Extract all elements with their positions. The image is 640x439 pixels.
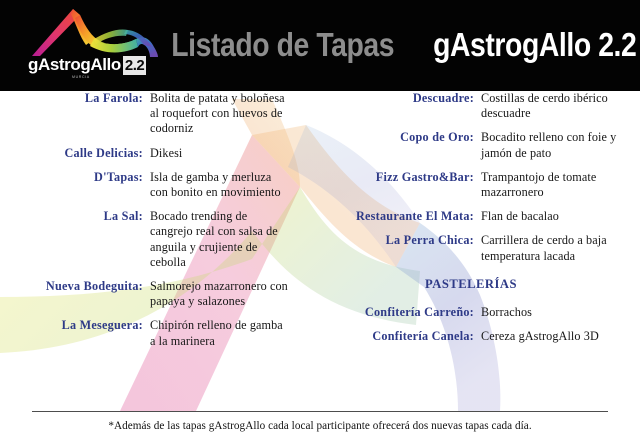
desc-line: cebolla [150,255,312,270]
tapa-description: Chipirón relleno de gamba a la marinera [150,318,312,348]
venue-name: D'Tapas: [12,170,150,185]
list-item: D'Tapas: Isla de gamba y merluza con bon… [12,170,312,200]
venue-name: La Farola: [12,91,150,106]
venue-name: Calle Delicias: [12,146,150,161]
desc-line: Bocado trending de [150,209,312,224]
desc-line: Carrillera de cerdo a baja [481,233,630,248]
list-item: Restaurante El Mata: Flan de bacalao [330,209,630,224]
tapa-description: Dikesi [150,146,312,161]
logo-wordmark-text: gAstrogAllo [28,56,121,74]
page-title-brand: gAstrogAllo 2.2 [428,27,636,63]
list-item: La Meseguera: Chipirón relleno de gamba … [12,318,312,348]
page-footer: *Además de las tapas gAstrogAllo cada lo… [0,411,640,439]
list-item: Descuadre: Costillas de cerdo ibérico de… [330,91,630,121]
tapa-description: Trampantojo de tomate mazarronero [481,170,630,200]
page-title: Listado de Tapas gAstrogAllo 2.2 [176,21,636,69]
list-item: Calle Delicias: Dikesi [12,146,312,161]
desc-line: codorniz [150,121,312,136]
venue-name: La Perra Chica: [330,233,481,248]
tapa-description: Bocadito relleno con foie y jamón de pat… [481,130,630,160]
list-item: La Sal: Bocado trending de cangrejo real… [12,209,312,270]
page-header: gAstrogAllo 2.2 MURCIA Listado de Tapas … [0,0,640,91]
desc-line: Salmorejo mazarronero con [150,279,312,294]
desc-line: cangrejo real con salsa de [150,224,312,239]
tapa-description: Carrillera de cerdo a baja temperatura l… [481,233,630,263]
list-item: La Perra Chica: Carrillera de cerdo a ba… [330,233,630,263]
desc-line: Bolita de patata y boloñesa [150,91,312,106]
tapa-description: Borrachos [481,305,630,320]
list-item: Confitería Canela: Cereza gAstrogAllo 3D [330,329,630,344]
tapa-description: Bocado trending de cangrejo real con sal… [150,209,312,270]
venue-name: La Meseguera: [12,318,150,333]
list-item: Confitería Carreño: Borrachos [330,305,630,320]
venue-name: Confitería Canela: [330,329,481,344]
venue-name: Nueva Bodeguita: [12,279,150,294]
desc-line: Bocadito relleno con foie y [481,130,630,145]
tapa-description: Cereza gAstrogAllo 3D [481,329,630,344]
desc-line: mazarronero [481,185,630,200]
desc-line: Cereza gAstrogAllo 3D [481,329,630,344]
tapa-description: Bolita de patata y boloñesa al roquefort… [150,91,312,137]
tapa-description: Costillas de cerdo ibérico descuadre [481,91,630,121]
list-item: La Farola: Bolita de patata y boloñesa a… [12,91,312,137]
desc-line: descuadre [481,106,630,121]
desc-line: temperatura lacada [481,249,630,264]
tapas-listing: La Farola: Bolita de patata y boloñesa a… [0,91,640,411]
tapa-description: Salmorejo mazarronero con papaya y salaz… [150,279,312,309]
brand-logo: gAstrogAllo 2.2 MURCIA [26,6,166,86]
footer-note: *Además de las tapas gAstrogAllo cada lo… [0,419,640,433]
list-item: Copo de Oro: Bocadito relleno con foie y… [330,130,630,160]
desc-line: Borrachos [481,305,630,320]
desc-line: Trampantojo de tomate [481,170,630,185]
venue-name: Fizz Gastro&Bar: [330,170,481,185]
venue-name: Confitería Carreño: [330,305,481,320]
right-column: Descuadre: Costillas de cerdo ibérico de… [330,91,630,353]
venue-name: Restaurante El Mata: [330,209,481,224]
desc-line: papaya y salazones [150,294,312,309]
page-title-primary: Listado de Tapas [171,27,394,63]
desc-line: Chipirón relleno de gamba [150,318,312,333]
venue-name: Descuadre: [330,91,481,106]
section-heading-pastelerias: PASTELERÍAS [330,276,630,292]
venue-name: La Sal: [12,209,150,224]
left-column: La Farola: Bolita de patata y boloñesa a… [12,91,312,358]
list-item: Fizz Gastro&Bar: Trampantojo de tomate m… [330,170,630,200]
rainbow-swoosh-icon [26,6,166,58]
desc-line: jamón de pato [481,146,630,161]
desc-line: a la marinera [150,334,312,349]
venue-name: Copo de Oro: [330,130,481,145]
tapa-description: Flan de bacalao [481,209,630,224]
footer-divider [32,411,608,412]
desc-line: al roquefort con huevos de [150,106,312,121]
tapa-description: Isla de gamba y merluza con bonito en mo… [150,170,312,200]
logo-version-badge: 2.2 [123,56,146,75]
logo-subtitle: MURCIA [72,75,90,79]
desc-line: anguila y crujiente de [150,240,312,255]
desc-line: Costillas de cerdo ibérico [481,91,630,106]
desc-line: con bonito en movimiento [150,185,312,200]
desc-line: Dikesi [150,146,312,161]
list-item: Nueva Bodeguita: Salmorejo mazarronero c… [12,279,312,309]
desc-line: Isla de gamba y merluza [150,170,312,185]
desc-line: Flan de bacalao [481,209,630,224]
